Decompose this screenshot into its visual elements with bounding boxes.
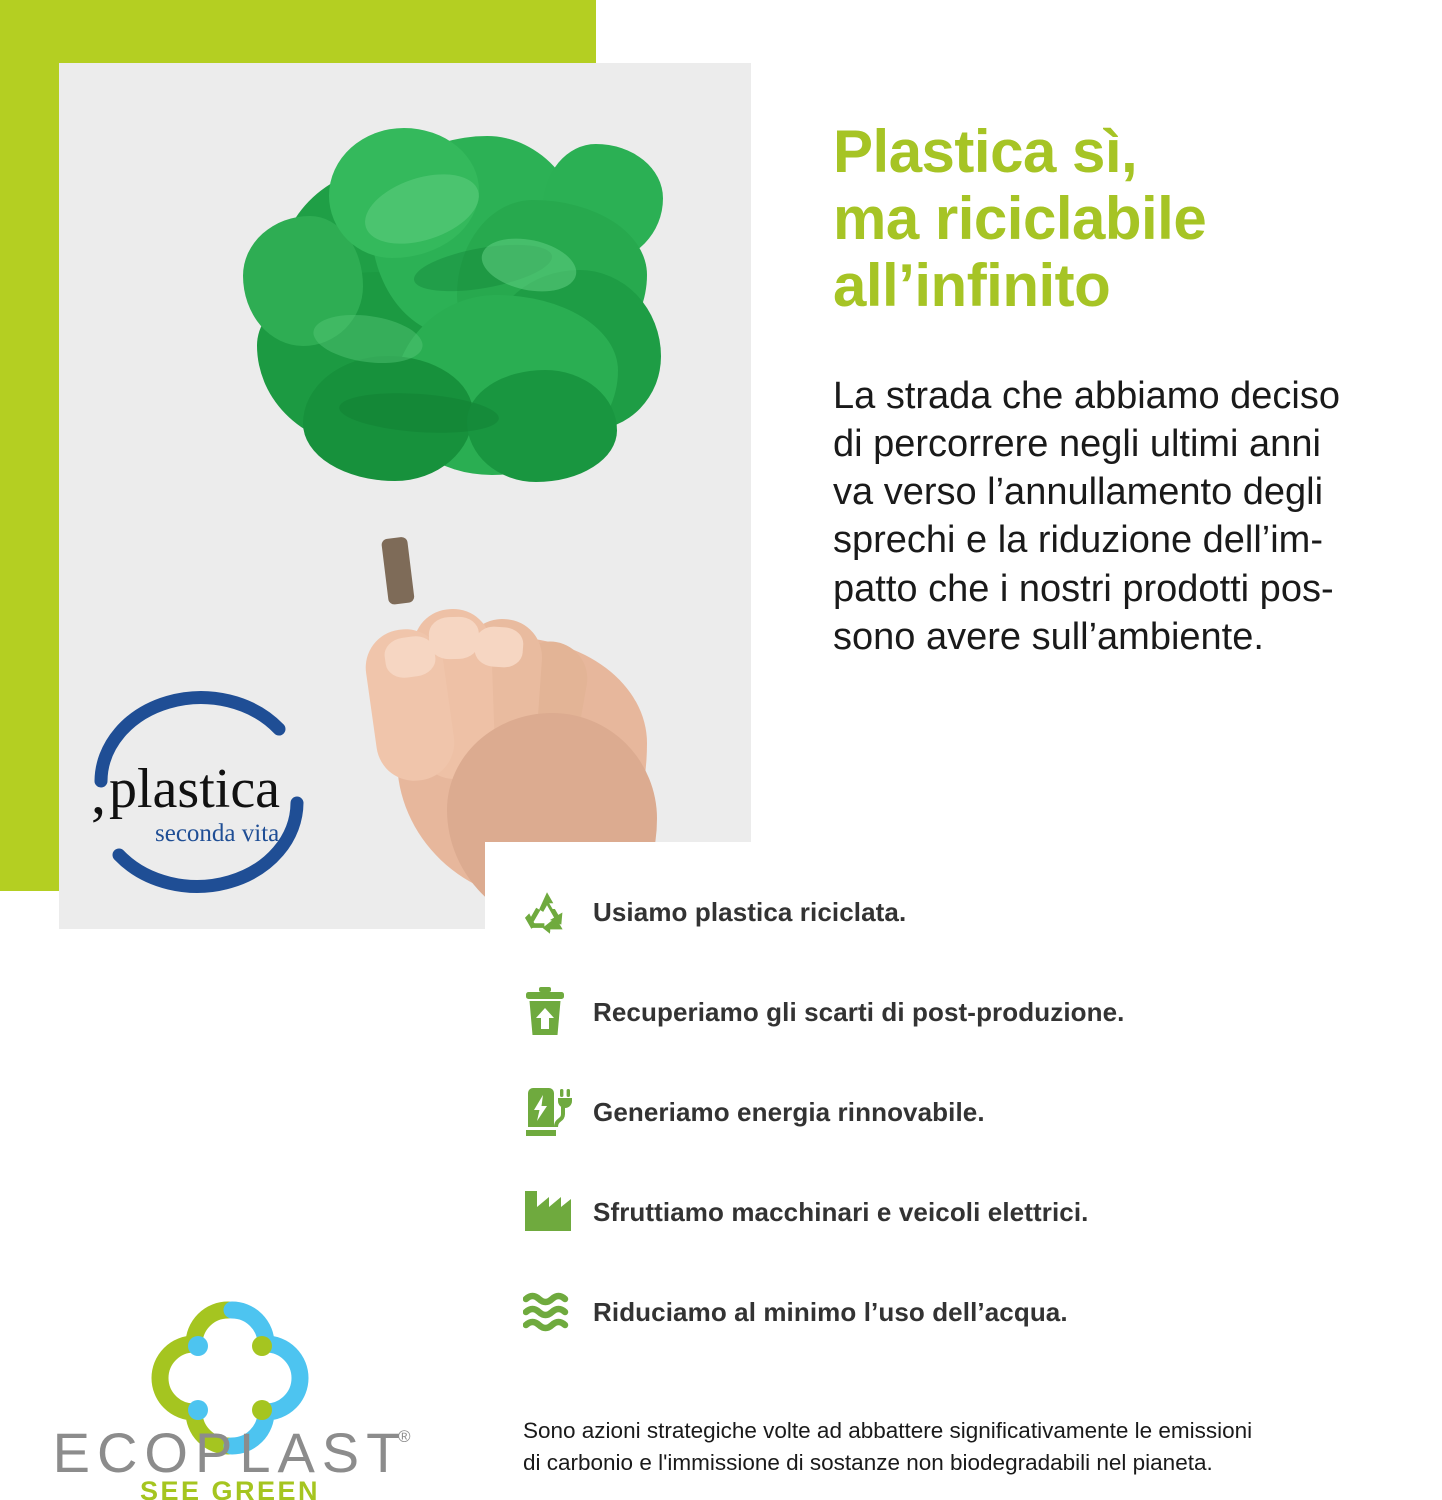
page-title-line-2: ma riciclabile: [833, 185, 1206, 252]
hero-copy-column: Plastica sì, ma riciclabile all’infinito…: [833, 118, 1442, 661]
intro-line-4: sprechi e la riduzione dell’im-: [833, 519, 1323, 561]
factory-icon: [523, 1189, 593, 1235]
ev-charger-icon: [523, 1087, 593, 1137]
intro-line-1: La strada che abbiamo deciso: [833, 375, 1340, 417]
hero-photo-scene: , plastica seconda vita: [59, 63, 751, 929]
intro-line-5: patto che i nostri prodotti pos-: [833, 568, 1334, 610]
plastica-seconda-vita-logo: , plastica seconda vita: [83, 685, 315, 911]
intro-line-2: di percorrere negli ultimi anni: [833, 423, 1321, 465]
intro-line-3: va verso l’annullamento degli: [833, 471, 1323, 513]
plastica-comma: ,: [91, 760, 106, 826]
list-item-label: Usiamo plastica riciclata.: [593, 897, 906, 928]
sustainability-actions-list: Usiamo plastica riciclata. Recuperiamo g…: [523, 862, 1423, 1362]
green-accent-rail-left: [0, 63, 59, 891]
list-item-label: Generiamo energia rinnovabile.: [593, 1097, 985, 1128]
list-item-label: Sfruttiamo macchinari e veicoli elettric…: [593, 1197, 1088, 1228]
list-item: Sfruttiamo macchinari e veicoli elettric…: [523, 1162, 1423, 1262]
plastica-tagline: seconda vita: [155, 820, 279, 847]
footnote-paragraph: Sono azioni strategiche volte ad abbatte…: [523, 1415, 1428, 1480]
page-title: Plastica sì, ma riciclabile all’infinito: [833, 118, 1442, 320]
intro-paragraph: La strada che abbiamo deciso di percorre…: [833, 320, 1441, 662]
registered-mark: ®: [398, 1427, 411, 1446]
list-item: Usiamo plastica riciclata.: [523, 862, 1423, 962]
paper-tree-foliage: [243, 120, 663, 490]
list-item-label: Riduciamo al minimo l’uso dell’acqua.: [593, 1297, 1068, 1328]
water-waves-icon: [523, 1291, 593, 1333]
trash-recover-icon: [523, 987, 593, 1037]
green-accent-band-top: [0, 0, 596, 63]
list-item: Recuperiamo gli scarti di post-produzion…: [523, 962, 1423, 1062]
footnote-line-2: di carbonio e l'immissione di sostanze n…: [523, 1450, 1213, 1475]
ecoplast-tagline: SEE GREEN: [140, 1476, 320, 1500]
list-item-label: Recuperiamo gli scarti di post-produzion…: [593, 997, 1125, 1028]
list-item: Generiamo energia rinnovabile.: [523, 1062, 1423, 1162]
footnote-line-1: Sono azioni strategiche volte ad abbatte…: [523, 1418, 1252, 1443]
intro-line-6: sono avere sull’ambiente.: [833, 616, 1264, 658]
ecoplast-wordmark: ECOPLAST: [53, 1421, 408, 1484]
recycle-icon: [523, 889, 593, 935]
page-title-line-3: all’infinito: [833, 252, 1110, 319]
hero-photo: , plastica seconda vita: [59, 63, 751, 929]
plastica-wordmark: plastica: [109, 758, 280, 820]
page-title-line-1: Plastica sì,: [833, 118, 1137, 185]
ecoplast-logo: ECOPLAST ® SEE GREEN: [30, 1276, 430, 1500]
list-item: Riduciamo al minimo l’uso dell’acqua.: [523, 1262, 1423, 1362]
